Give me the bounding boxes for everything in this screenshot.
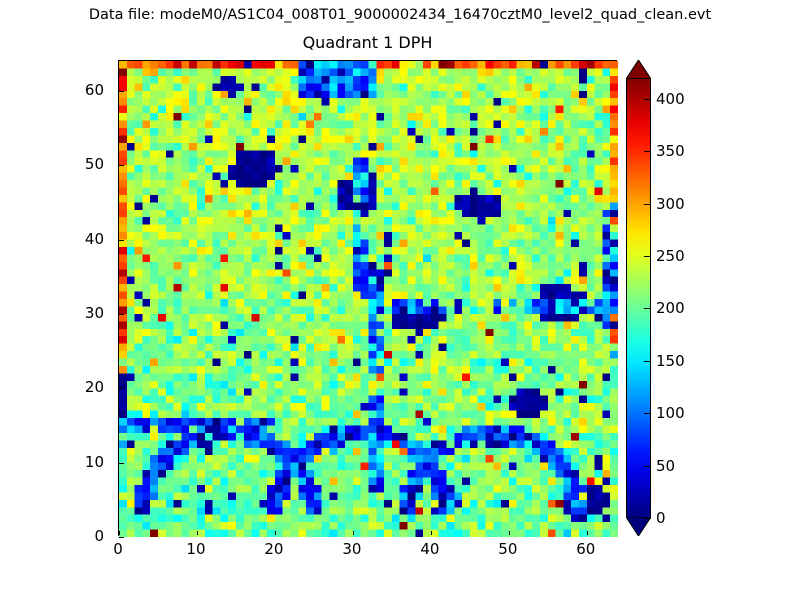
x-tick-mark <box>587 531 588 535</box>
x-tick-label: 60 <box>576 540 595 558</box>
colorbar-tick-mark <box>644 413 651 414</box>
x-tick-label: 40 <box>420 540 439 558</box>
colorbar-tick-mark <box>644 518 651 519</box>
y-tick-label: 40 <box>0 230 104 248</box>
colorbar-tick-label: 350 <box>656 142 685 160</box>
y-tick-mark <box>119 240 124 241</box>
y-tick-mark <box>119 165 124 166</box>
colorbar-tick-mark <box>644 361 651 362</box>
x-tick-mark <box>119 531 120 535</box>
colorbar-tick-label: 200 <box>656 299 685 317</box>
colorbar-extend-high-arrow <box>626 60 651 79</box>
x-tick-label: 50 <box>498 540 517 558</box>
y-tick-label: 30 <box>0 304 104 322</box>
colorbar-tick-mark <box>644 256 651 257</box>
plot-title: Quadrant 1 DPH <box>118 33 617 52</box>
y-tick-label: 20 <box>0 378 104 396</box>
colorbar-tick-label: 0 <box>656 509 666 527</box>
colorbar-tick-mark <box>644 99 651 100</box>
y-tick-label: 0 <box>0 527 104 545</box>
colorbar-tick-label: 50 <box>656 457 675 475</box>
colorbar-tick-label: 300 <box>656 195 685 213</box>
y-tick-label: 10 <box>0 453 104 471</box>
colorbar-tick-mark <box>644 308 651 309</box>
colorbar-tick-mark <box>644 204 651 205</box>
y-tick-mark <box>119 91 124 92</box>
colorbar-tick-label: 150 <box>656 352 685 370</box>
x-tick-mark <box>353 531 354 535</box>
x-tick-label: 10 <box>186 540 205 558</box>
colorbar-extend-low-arrow <box>626 517 651 536</box>
x-tick-mark <box>509 531 510 535</box>
figure-canvas: Data file: modeM0/AS1C04_008T01_90000024… <box>0 0 800 600</box>
y-tick-mark <box>119 463 124 464</box>
colorbar-tick-label: 250 <box>656 247 685 265</box>
colorbar-tick-mark <box>644 466 651 467</box>
colorbar-tick-label: 100 <box>656 404 685 422</box>
colorbar[interactable]: 050100150200250300350400 <box>626 60 651 536</box>
colorbar-gradient <box>626 78 651 518</box>
x-tick-mark <box>275 531 276 535</box>
y-tick-label: 50 <box>0 155 104 173</box>
colorbar-tick-mark <box>644 151 651 152</box>
x-tick-mark <box>197 531 198 535</box>
data-file-suptitle: Data file: modeM0/AS1C04_008T01_90000024… <box>0 7 800 23</box>
x-tick-label: 0 <box>113 540 123 558</box>
heatmap-image[interactable] <box>119 61 618 537</box>
y-tick-mark <box>119 314 124 315</box>
x-tick-mark <box>431 531 432 535</box>
heatmap-axes[interactable] <box>118 60 617 536</box>
colorbar-tick-label: 400 <box>656 90 685 108</box>
y-tick-label: 60 <box>0 81 104 99</box>
x-tick-label: 30 <box>342 540 361 558</box>
y-tick-mark <box>119 537 124 538</box>
x-tick-label: 20 <box>264 540 283 558</box>
y-tick-mark <box>119 388 124 389</box>
